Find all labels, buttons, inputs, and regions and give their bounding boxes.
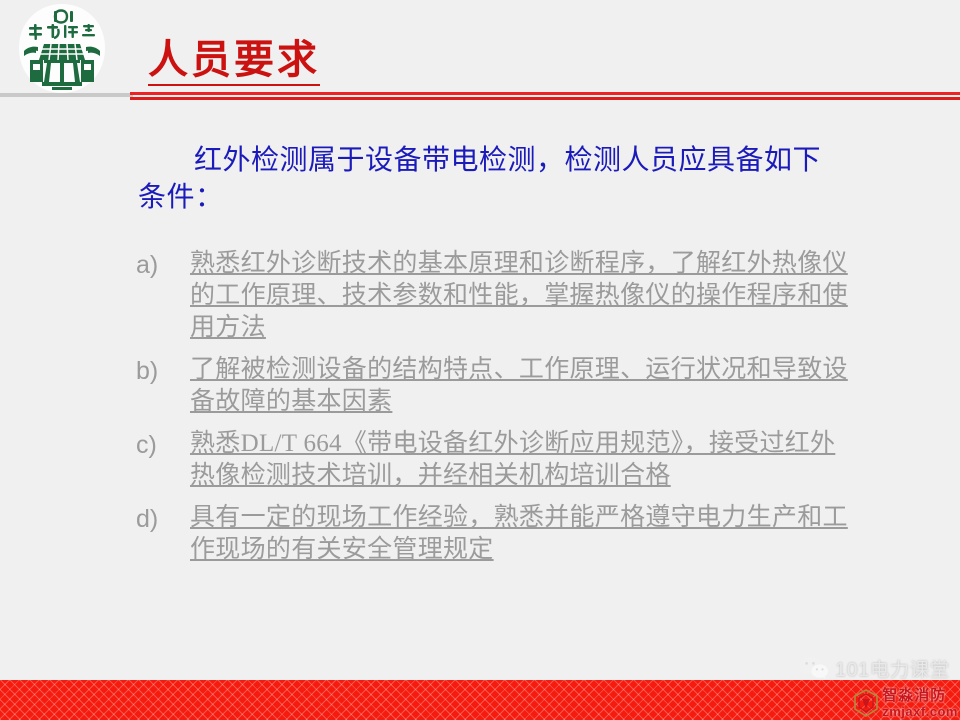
wechat-icon (799, 656, 829, 682)
list-item-text: 熟悉红外诊断技术的基本原理和诊断程序，了解红外热像仪的工作原理、技术参数和性能，… (190, 248, 856, 344)
intro-paragraph: 红外检测属于设备带电检测，检测人员应具备如下条件： (138, 143, 838, 217)
list-item-text: 具有一定的现场工作经验，熟悉并能严格遵守电力生产和工作现场的有关安全管理规定 (190, 502, 856, 566)
list-item: d) 具有一定的现场工作经验，熟悉并能严格遵守电力生产和工作现场的有关安全管理规… (136, 502, 856, 566)
wechat-watermark: 101电力课堂 (799, 655, 950, 682)
list-item: a) 熟悉红外诊断技术的基本原理和诊断程序，了解红外热像仪的工作原理、技术参数和… (136, 248, 856, 344)
list-item-marker: a) (136, 248, 190, 281)
header-divider-gray (0, 93, 133, 97)
brand-url: zmjaxf.com (882, 705, 958, 718)
header-divider-red-secondary (130, 97, 960, 100)
footer-red-bar (0, 680, 960, 720)
wechat-watermark-text: 101电力课堂 (835, 655, 950, 682)
list-item-marker: d) (136, 502, 190, 535)
course-logo (14, 2, 110, 96)
slide-header: 人员要求 (0, 0, 960, 104)
list-item: c) 熟悉DL/T 664《带电设备红外诊断应用规范》，接受过红外热像检测技术培… (136, 428, 856, 492)
brand-logo-icon (853, 689, 879, 717)
list-item-marker: b) (136, 354, 190, 387)
list-item-marker: c) (136, 428, 190, 461)
brand-name: 智淼消防 (882, 688, 958, 703)
slide-root: 人员要求 红外检测属于设备带电检测，检测人员应具备如下条件： a) 熟悉红外诊断… (0, 0, 960, 720)
list-item-text: 了解被检测设备的结构特点、工作原理、运行状况和导致设备故障的基本因素 (190, 354, 856, 418)
list-item: b) 了解被检测设备的结构特点、工作原理、运行状况和导致设备故障的基本因素 (136, 354, 856, 418)
brand-watermark: 智淼消防 zmjaxf.com (853, 688, 958, 718)
header-divider-red (130, 92, 960, 95)
page-title: 人员要求 (148, 40, 320, 86)
list-item-text: 熟悉DL/T 664《带电设备红外诊断应用规范》，接受过红外热像检测技术培训，并… (190, 428, 856, 492)
requirements-list: a) 熟悉红外诊断技术的基本原理和诊断程序，了解红外热像仪的工作原理、技术参数和… (136, 248, 856, 576)
